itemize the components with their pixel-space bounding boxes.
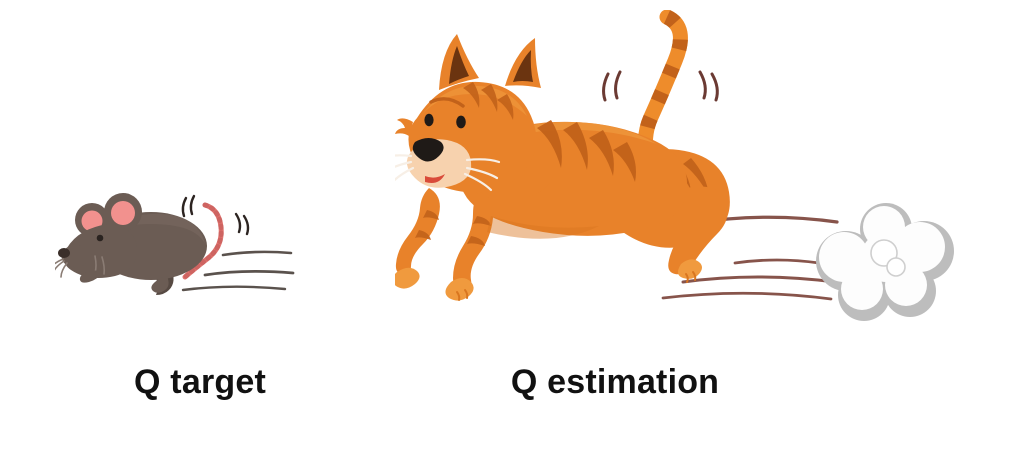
dust-puff xyxy=(800,195,980,325)
cat-front-leg-near xyxy=(396,188,440,274)
running-mouse xyxy=(55,180,325,320)
mouse-nose xyxy=(58,248,70,258)
caption-q-target: Q target xyxy=(0,363,400,402)
scene: Q target Q estimation xyxy=(0,0,1030,473)
mouse-eye xyxy=(97,235,104,242)
cat-eye-left xyxy=(424,114,433,126)
illustration-canvas: Q target Q estimation xyxy=(0,0,1030,473)
caption-q-estimation: Q estimation xyxy=(390,363,840,402)
cat-eye-right xyxy=(456,116,466,129)
